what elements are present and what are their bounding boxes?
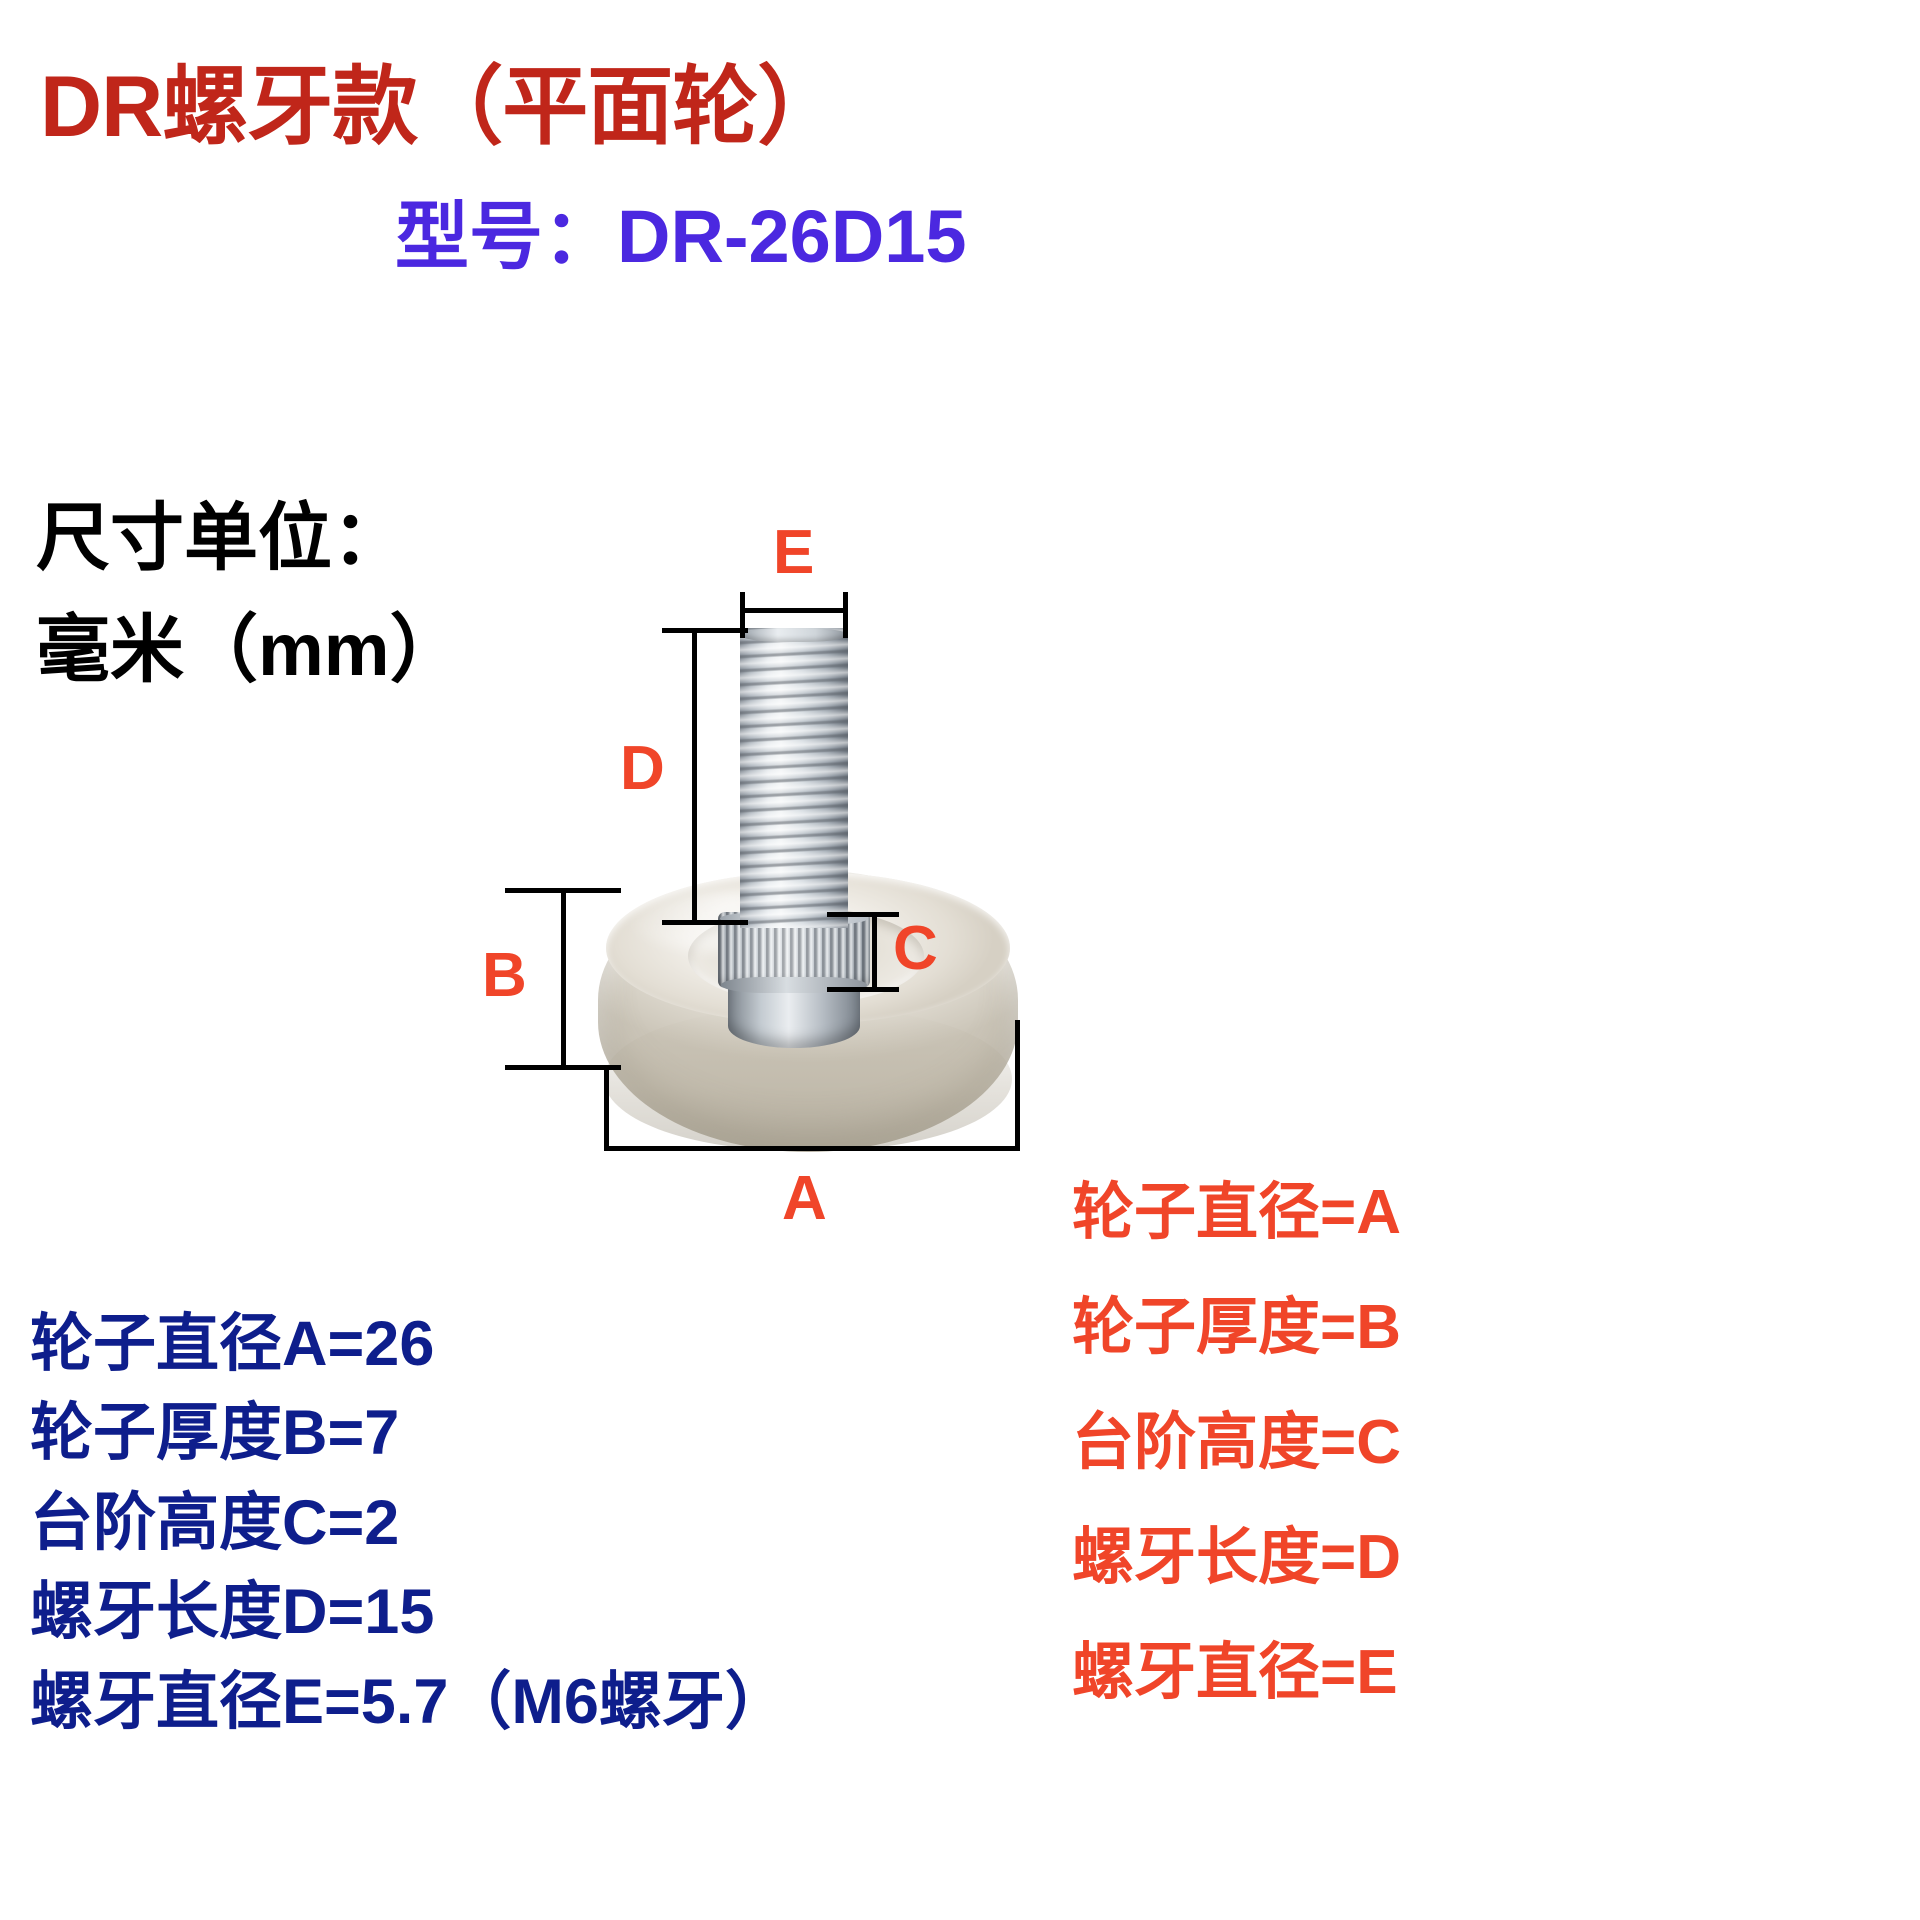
- dim-d-tick-bottom: [662, 920, 748, 925]
- page-title: DR螺牙款（平面轮）: [40, 62, 842, 152]
- dim-c-tick-bottom: [827, 987, 899, 992]
- legend-row-e: 螺牙直径=E: [1072, 1642, 1401, 1704]
- dim-d-tick-top: [662, 628, 748, 633]
- dim-a-tick-left: [604, 1065, 609, 1151]
- dim-c-line: [872, 912, 877, 992]
- spec-row-c: 台阶高度C=2: [30, 1479, 788, 1568]
- legend-row-a: 轮子直径=A: [1072, 1182, 1401, 1244]
- spec-row-e: 螺牙直径E=5.7（M6螺牙）: [30, 1658, 788, 1747]
- dim-e-line: [740, 608, 848, 613]
- legend-row-b: 轮子厚度=B: [1072, 1297, 1401, 1359]
- spec-row-b: 轮子厚度B=7: [30, 1389, 788, 1478]
- spec-row-d: 螺牙长度D=15: [30, 1568, 788, 1657]
- dim-label-c: C: [893, 918, 938, 980]
- unit-note-line-1: 尺寸单位：: [36, 482, 464, 594]
- legend-list: 轮子直径=A 轮子厚度=B 台阶高度=C 螺牙长度=D 螺牙直径=E: [1072, 1182, 1401, 1704]
- dim-label-e: E: [773, 522, 814, 584]
- spec-list: 轮子直径A=26 轮子厚度B=7 台阶高度C=2 螺牙长度D=15 螺牙直径E=…: [30, 1300, 788, 1747]
- dim-a-tick-right: [1015, 1020, 1020, 1151]
- dim-e-tick-right: [843, 592, 848, 638]
- dim-a-line: [604, 1146, 1020, 1151]
- legend-row-c: 台阶高度=C: [1072, 1412, 1401, 1474]
- product-photo: E D C B A: [520, 540, 1220, 1280]
- dim-c-tick-top: [827, 912, 899, 917]
- dim-label-a: A: [782, 1168, 827, 1230]
- legend-row-d: 螺牙长度=D: [1072, 1527, 1401, 1589]
- unit-note-line-2: 毫米（mm）: [36, 594, 464, 706]
- dim-d-line: [692, 628, 697, 924]
- threaded-stud-shaft: [740, 628, 848, 928]
- dim-label-d: D: [620, 738, 665, 800]
- spec-row-a: 轮子直径A=26: [30, 1300, 788, 1389]
- dim-b-line: [561, 888, 566, 1068]
- dim-label-b: B: [482, 945, 527, 1007]
- unit-note: 尺寸单位： 毫米（mm）: [36, 482, 464, 707]
- model-number: 型号：DR-26D15: [395, 198, 967, 276]
